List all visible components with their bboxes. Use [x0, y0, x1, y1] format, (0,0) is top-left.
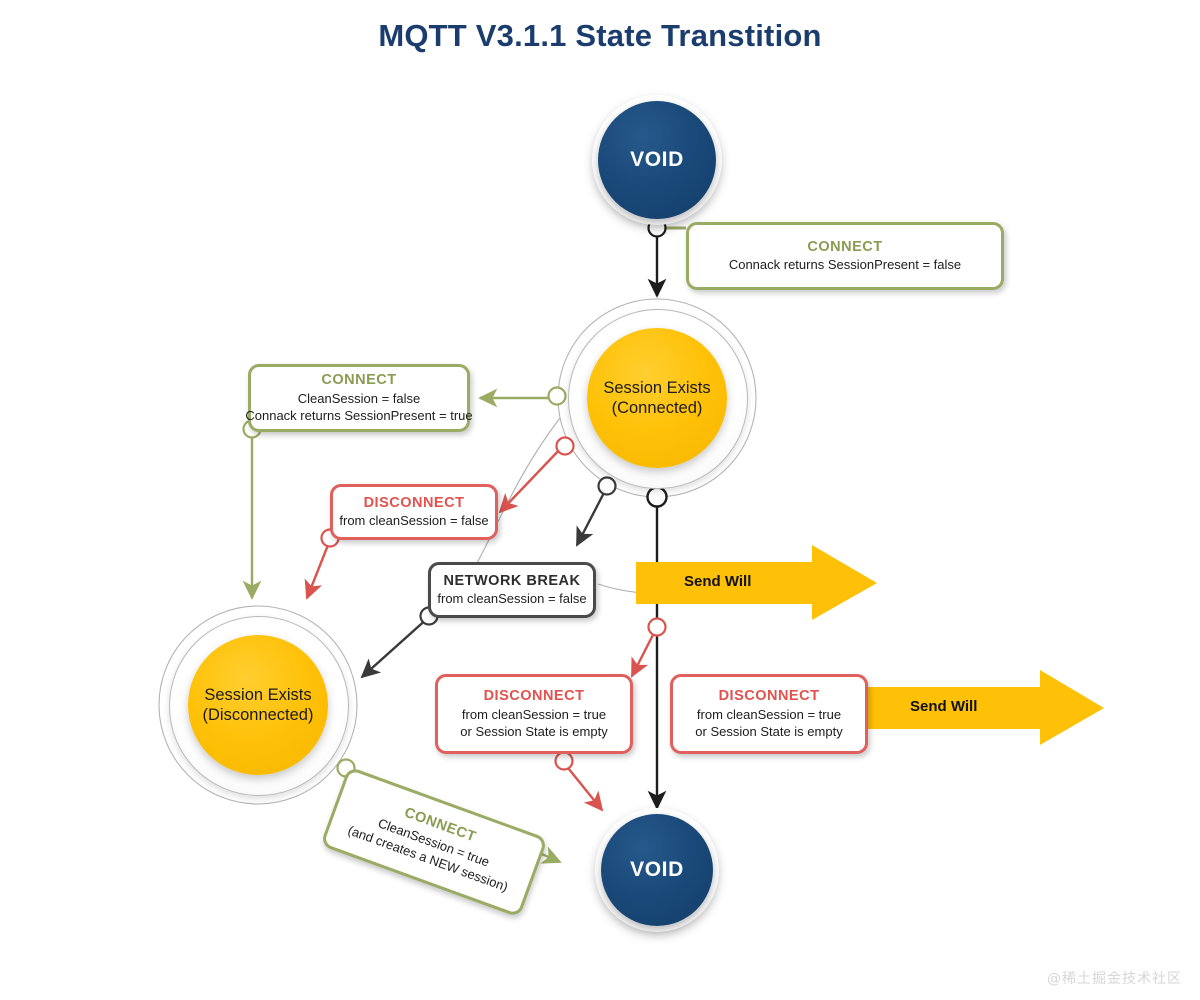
void-top-disc: VOID — [598, 101, 716, 219]
diagram-canvas: MQTT V3.1.1 State Transtition — [0, 0, 1200, 1000]
disconnect-clean-false-heading: DISCONNECT — [364, 494, 465, 514]
disconnect-right-line-1: from cleanSession = true — [697, 707, 841, 724]
send-will-lower-label: Send Will — [910, 698, 977, 715]
disconnect-left-heading: DISCONNECT — [484, 687, 585, 707]
void-bottom-label: VOID — [630, 857, 684, 883]
disconnect-left-line-1: from cleanSession = true — [462, 707, 606, 724]
session-connected-line1: Session Exists — [603, 379, 710, 397]
disconnect-right-heading: DISCONNECT — [719, 687, 820, 707]
network-break-heading: NETWORK BREAK — [444, 572, 581, 592]
disconnect-left-line-2: or Session State is empty — [460, 724, 607, 741]
send-will-upper-label: Send Will — [684, 573, 751, 590]
session-connected-label: Session Exists (Connected) — [603, 378, 710, 418]
label-network-break[interactable]: NETWORK BREAK from cleanSession = false — [428, 562, 596, 618]
session-connected-line2: (Connected) — [612, 399, 703, 417]
session-connected-disc: Session Exists (Connected) — [587, 328, 727, 468]
send-will-arrow-lower[interactable]: Send Will — [862, 670, 1110, 748]
state-node-void-bottom[interactable]: VOID — [595, 808, 719, 932]
state-node-session-disconnected[interactable]: Session Exists (Disconnected) — [169, 616, 347, 794]
disconnect-right-line-2: or Session State is empty — [695, 724, 842, 741]
label-disconnect-clean-true-left[interactable]: DISCONNECT from cleanSession = true or S… — [435, 674, 633, 754]
label-connect-resume[interactable]: CONNECT CleanSession = false Connack ret… — [248, 364, 470, 432]
connect-initial-line-1: Connack returns SessionPresent = false — [729, 257, 961, 274]
void-bottom-disc: VOID — [601, 814, 713, 926]
session-disconnected-line1: Session Exists — [204, 686, 311, 704]
label-connect-new-session[interactable]: CONNECT CleanSession = true (and creates… — [320, 766, 548, 917]
network-break-line-1: from cleanSession = false — [437, 591, 586, 608]
connect-resume-heading: CONNECT — [321, 371, 396, 391]
void-top-label: VOID — [630, 147, 684, 173]
label-disconnect-clean-false[interactable]: DISCONNECT from cleanSession = false — [330, 484, 498, 540]
connect-resume-line-2: Connack returns SessionPresent = true — [245, 408, 472, 425]
connect-initial-heading: CONNECT — [807, 238, 882, 258]
session-disconnected-line2: (Disconnected) — [203, 706, 314, 724]
send-will-arrow-upper[interactable]: Send Will — [636, 545, 881, 623]
state-node-void-top[interactable]: VOID — [592, 95, 722, 225]
label-disconnect-clean-true-right[interactable]: DISCONNECT from cleanSession = true or S… — [670, 674, 868, 754]
page-title: MQTT V3.1.1 State Transtition — [0, 18, 1200, 54]
disconnect-clean-false-line-1: from cleanSession = false — [339, 513, 488, 530]
connect-resume-line-1: CleanSession = false — [298, 391, 421, 408]
session-disconnected-label: Session Exists (Disconnected) — [203, 685, 314, 725]
watermark: @稀土掘金技术社区 — [1047, 968, 1182, 988]
label-connect-initial[interactable]: CONNECT Connack returns SessionPresent =… — [686, 222, 1004, 290]
session-disconnected-disc: Session Exists (Disconnected) — [188, 635, 328, 775]
state-node-session-connected[interactable]: Session Exists (Connected) — [568, 309, 746, 487]
